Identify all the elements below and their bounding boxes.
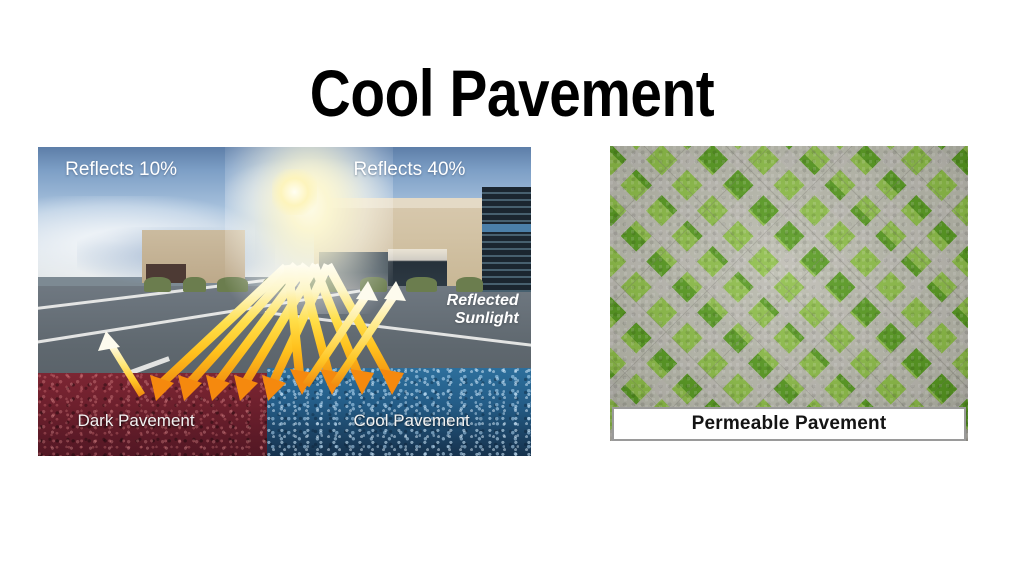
reflected-sunlight-label: Reflected Sunlight — [447, 292, 519, 328]
reflects-left-label: Reflects 10% — [65, 159, 177, 181]
permeable-pavement-photo — [610, 146, 968, 441]
reflects-right-label: Reflects 40% — [354, 159, 466, 181]
page-title: Cool Pavement — [72, 56, 953, 130]
presentation-slide: Cool Pavement — [0, 0, 1024, 576]
reflected-sunlight-line2: Sunlight — [447, 310, 519, 328]
reflected-sunlight-line1: Reflected — [447, 292, 519, 310]
reflected-beam-arrowheads-right — [356, 281, 406, 301]
permeable-pavement-caption-text: Permeable Pavement — [692, 413, 887, 435]
reflected-beam-left — [110, 343, 142, 395]
permeable-pavement-caption-box: Permeable Pavement — [612, 407, 966, 441]
solar-reflectance-diagram: Reflects 10% Reflects 40% Reflected Sunl… — [38, 147, 531, 456]
paver-vignette — [610, 146, 968, 441]
dark-pavement-label: Dark Pavement — [77, 411, 194, 431]
cool-pavement-label: Cool Pavement — [354, 411, 470, 431]
